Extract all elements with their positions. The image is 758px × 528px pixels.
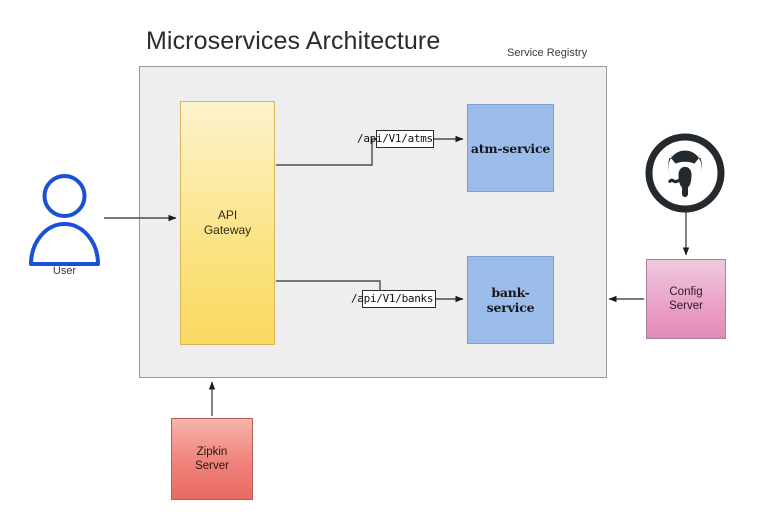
- atm-service-label: atm-service: [471, 141, 550, 156]
- node-api-gateway[interactable]: API Gateway: [180, 101, 275, 345]
- config-server-label-line2: Server: [669, 299, 703, 313]
- edge-label-gateway-to-bank: /api/V1/banks: [351, 292, 433, 305]
- zipkin-server-label-line2: Server: [195, 459, 229, 473]
- github-octocat-icon: [645, 133, 725, 213]
- config-server-label-line1: Config: [669, 285, 703, 299]
- edge-label-gateway-to-atm: /api/V1/atms: [357, 132, 433, 145]
- node-zipkin-server[interactable]: Zipkin Server: [171, 418, 253, 500]
- user-actor-label: User: [28, 265, 101, 277]
- service-registry-label: Service Registry: [507, 47, 587, 59]
- api-gateway-label-line2: Gateway: [204, 223, 251, 238]
- diagram-canvas: Microservices Architecture Service Regis…: [0, 0, 758, 528]
- user-actor-icon: [28, 170, 101, 270]
- node-atm-service[interactable]: atm-service: [467, 104, 554, 192]
- api-gateway-label-line1: API: [204, 208, 251, 223]
- bank-service-label: bank-service: [468, 285, 553, 315]
- page-title: Microservices Architecture: [146, 27, 440, 56]
- node-bank-service[interactable]: bank-service: [467, 256, 554, 344]
- zipkin-server-label-line1: Zipkin: [195, 445, 229, 459]
- node-config-server[interactable]: Config Server: [646, 259, 726, 339]
